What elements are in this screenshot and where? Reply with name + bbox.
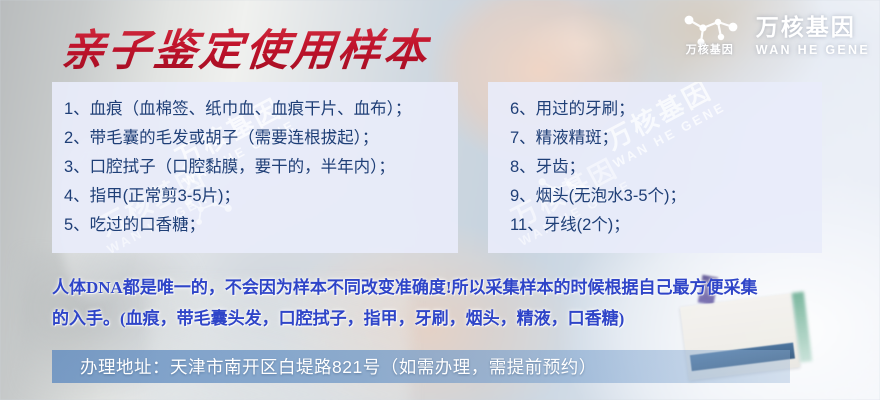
note-paragraph: 人体DNA都是唯一的，不会因为样本不同改变准确度!所以采集样本的时候根据自己最方…	[52, 272, 844, 334]
address-bar: 办理地址：天津市南开区白堤路821号（如需办理，需提前预约）	[52, 350, 790, 383]
list-item: 2、带毛囊的毛发或胡子（需要连根拔起）；	[64, 124, 458, 153]
brand-text: 万核基因 WAN HE GENE	[756, 16, 870, 57]
molecule-network-icon: 万核基因	[680, 13, 746, 59]
note-line-1: 人体DNA都是唯一的，不会因为样本不同改变准确度!所以采集样本的时候根据自己最方…	[52, 272, 844, 303]
list-item: 11、牙线(2个)；	[510, 211, 822, 240]
list-item: 9、烟头(无泡水3-5个)；	[510, 182, 822, 211]
list-item: 1、血痕（血棉签、纸巾血、血痕干片、血布）；	[64, 95, 458, 124]
poster-root: 万核基因 万核基因 WAN HE GENE 亲子鉴定使用样本 万核基因 WAN …	[0, 0, 880, 400]
list-item: 7、精液精斑；	[510, 124, 822, 153]
list-item: 5、吃过的口香糖；	[64, 211, 458, 240]
list-item: 8、牙齿；	[510, 153, 822, 182]
note-line-2: 的入手。(血痕，带毛囊头发，口腔拭子，指甲，牙刷，烟头，精液，口香糖)	[52, 303, 844, 334]
list-item: 6、用过的牙刷；	[510, 95, 822, 124]
sample-list-panel-left: 万核基因 WAN HE GENE 万核基因 WAN HE GENE 1、血痕（血…	[52, 82, 458, 253]
list-item: 3、口腔拭子（口腔黏膜，要干的，半年内）；	[64, 153, 458, 182]
brand-logo: 万核基因 万核基因 WAN HE GENE	[680, 8, 870, 64]
sample-list-right: 6、用过的牙刷； 7、精液精斑； 8、牙齿； 9、烟头(无泡水3-5个)； 11…	[510, 95, 822, 240]
sample-list-panel-right: 万核基因 WAN HE GENE 万核基因 WAN HE GENE 6、用过的牙…	[488, 82, 822, 253]
brand-mark-caption: 万核基因	[686, 41, 734, 57]
sample-list-left: 1、血痕（血棉签、纸巾血、血痕干片、血布）； 2、带毛囊的毛发或胡子（需要连根拔…	[64, 95, 458, 240]
list-item: 4、指甲(正常剪3-5片)；	[64, 182, 458, 211]
page-title: 亲子鉴定使用样本	[59, 16, 434, 78]
address-text: 办理地址：天津市南开区白堤路821号（如需办理，需提前预约）	[80, 354, 597, 379]
brand-name-en: WAN HE GENE	[756, 44, 870, 57]
brand-name-cn: 万核基因	[756, 16, 870, 39]
